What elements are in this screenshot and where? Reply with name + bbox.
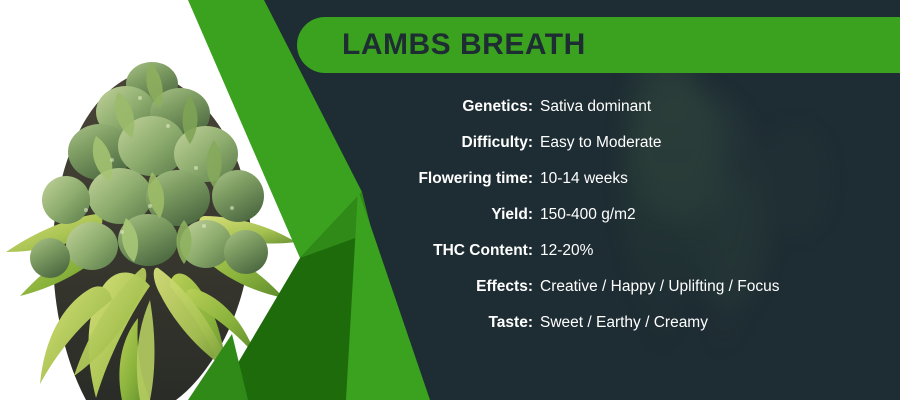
page-title: LAMBS BREATH	[342, 28, 586, 62]
spec-value: Sweet / Earthy / Creamy	[533, 314, 708, 332]
spec-label: Genetics:	[0, 98, 533, 116]
spec-label: THC Content:	[0, 242, 533, 260]
spec-row-taste: Taste: Sweet / Earthy / Creamy	[0, 314, 900, 350]
spec-value: 12-20%	[533, 242, 593, 260]
spec-value: 150-400 g/m2	[533, 206, 636, 224]
spec-label: Flowering time:	[0, 170, 533, 188]
spec-row-yield: Yield: 150-400 g/m2	[0, 206, 900, 242]
spec-row-effects: Effects: Creative / Happy / Uplifting / …	[0, 278, 900, 314]
spec-label: Yield:	[0, 206, 533, 224]
spec-list: Genetics: Sativa dominant Difficulty: Ea…	[0, 98, 900, 350]
spec-label: Effects:	[0, 278, 533, 296]
spec-row-difficulty: Difficulty: Easy to Moderate	[0, 134, 900, 170]
spec-value: Sativa dominant	[533, 98, 651, 116]
spec-value: Creative / Happy / Uplifting / Focus	[533, 278, 780, 296]
spec-row-genetics: Genetics: Sativa dominant	[0, 98, 900, 134]
spec-value: Easy to Moderate	[533, 134, 661, 152]
spec-label: Taste:	[0, 314, 533, 332]
strain-info-card: LAMBS BREATH Genetics: Sativa dominant D…	[0, 0, 900, 400]
spec-label: Difficulty:	[0, 134, 533, 152]
title-banner: LAMBS BREATH	[297, 17, 900, 73]
spec-row-flowering-time: Flowering time: 10-14 weeks	[0, 170, 900, 206]
spec-value: 10-14 weeks	[533, 170, 628, 188]
spec-row-thc-content: THC Content: 12-20%	[0, 242, 900, 278]
